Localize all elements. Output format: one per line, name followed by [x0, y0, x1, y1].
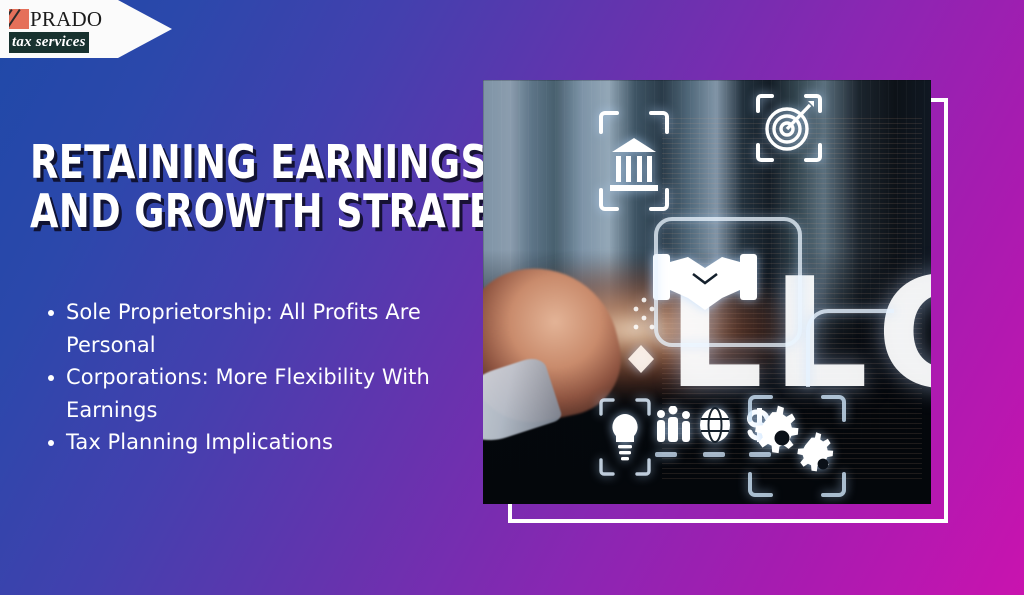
list-item: Corporations: More Flexibility With Earn… — [42, 361, 462, 426]
logo-top-row: PRADO — [9, 8, 113, 30]
brand-tagline: tax services — [9, 32, 89, 53]
headline-line-2: AND GROWTH STRATEGY — [30, 187, 382, 236]
globe-icon — [700, 408, 730, 442]
prado-mark-icon — [9, 9, 29, 29]
people-icon — [657, 406, 690, 442]
key-points-list: Sole Proprietorship: All Profits Are Per… — [42, 296, 462, 459]
hud-arc-line — [806, 309, 896, 389]
list-item: Sole Proprietorship: All Profits Are Per… — [42, 296, 462, 361]
hero-photo: LLC — [483, 80, 931, 504]
logo-banner[interactable]: PRADO tax services — [0, 0, 172, 58]
lightbulb-icon — [599, 398, 651, 478]
gears-icon — [747, 394, 847, 498]
bank-icon — [599, 110, 669, 212]
page-title: RETAINING EARNINGS AND GROWTH STRATEGY — [30, 138, 470, 236]
logo-lockup: PRADO tax services — [9, 8, 113, 53]
headline-line-1: RETAINING EARNINGS — [30, 138, 382, 187]
hud-panel-outline — [653, 216, 803, 348]
slide-canvas: PRADO tax services RETAINING EARNINGS AN… — [0, 0, 1024, 595]
list-item: Tax Planning Implications — [42, 426, 462, 459]
hud-dot-cluster — [631, 296, 657, 336]
diamond-icon — [626, 343, 656, 375]
brand-name: PRADO — [30, 9, 102, 30]
target-icon — [756, 93, 822, 165]
